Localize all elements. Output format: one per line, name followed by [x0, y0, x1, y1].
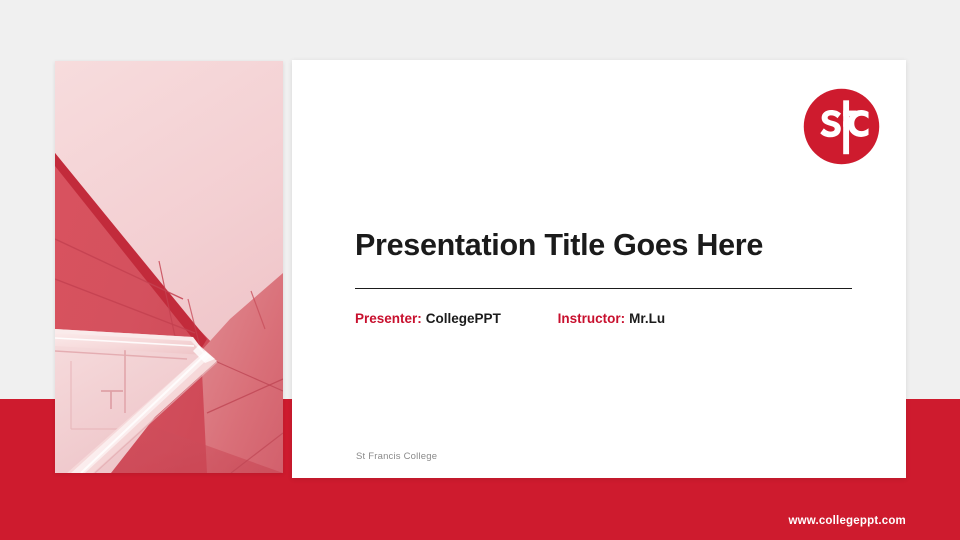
site-url-text: www.collegeppt.com [788, 515, 906, 527]
sfc-logo-icon [803, 88, 880, 165]
presenter-field: Presenter:CollegePPT [355, 311, 501, 326]
presenter-label: Presenter: [355, 311, 422, 326]
abstract-architecture-photo [55, 61, 283, 473]
content-card: Presentation Title Goes Here Presenter:C… [292, 60, 906, 478]
meta-row: Presenter:CollegePPT Instructor:Mr.Lu [355, 311, 875, 326]
presenter-value: CollegePPT [426, 311, 501, 326]
instructor-label: Instructor: [558, 311, 626, 326]
title-divider [355, 288, 852, 289]
page-title: Presentation Title Goes Here [355, 228, 875, 263]
instructor-field: Instructor:Mr.Lu [558, 311, 666, 326]
slide-canvas: www.collegeppt.com Presentation Tit [0, 0, 960, 540]
card-footer-note: St Francis College [356, 451, 437, 462]
instructor-value: Mr.Lu [629, 311, 665, 326]
